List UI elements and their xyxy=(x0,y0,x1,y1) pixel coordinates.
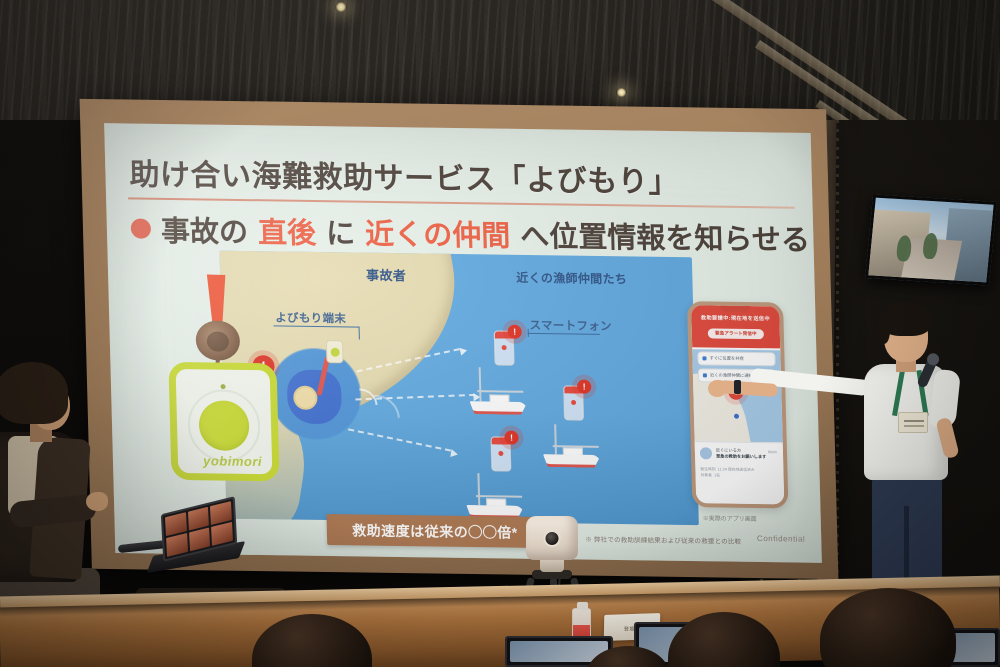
seated-guest-hair xyxy=(0,362,68,424)
phone-mockup-caption: ※実際のアプリ画面 xyxy=(703,513,757,523)
phone-notch xyxy=(720,306,750,312)
yobimori-device-in-hand xyxy=(326,340,344,363)
app-phone-mockup: 救助要請中:現在地を送信中 緊急アラート発信中 ! すぐに位置を共有 近くの漁師… xyxy=(687,301,788,508)
fishing-boat xyxy=(542,427,603,468)
presenter-watch xyxy=(734,380,741,394)
fishing-boat xyxy=(469,374,530,415)
seated-guest-hand xyxy=(86,492,108,511)
app-meta-key: 発生時刻 xyxy=(700,467,715,471)
presenter-name-badge xyxy=(898,412,928,433)
ptz-camera-head xyxy=(526,516,578,560)
app-meta-key: 対象者 xyxy=(701,474,713,478)
label-nearby-fishermen: 近くの漁師仲間たち xyxy=(516,269,627,288)
device-brand-label: yobimori xyxy=(203,453,262,469)
presentation-photo-scene: 助け合い海難救助サービス「よびもり」 事故の直後に近くの仲間へ位置情報を知らせる… xyxy=(0,0,1000,667)
downlight xyxy=(335,2,347,12)
app-avatar xyxy=(700,447,712,459)
title-underline xyxy=(128,197,795,208)
camera-lens-icon xyxy=(544,530,561,547)
alert-badge-icon: ! xyxy=(577,380,591,394)
app-meta-value: 1名 xyxy=(714,474,720,478)
confidential-label: Confidential xyxy=(757,534,806,544)
app-meta-value: 11:24 現在地送信済み xyxy=(718,467,755,472)
presenter-pointing-hand xyxy=(708,380,726,397)
alert-badge-icon: ! xyxy=(504,431,518,445)
signal-arrow-head xyxy=(459,346,468,355)
app-header-title: 救助要請中:現在地を送信中 xyxy=(691,314,779,322)
projection-screen: 助け合い海難救助サービス「よびもり」 事故の直後に近くの仲間へ位置情報を知らせる… xyxy=(104,123,822,563)
app-header-pill: 緊急アラート発信中 xyxy=(708,328,764,339)
signal-arrow-head xyxy=(450,449,458,458)
label-victim: 事故者 xyxy=(366,265,406,285)
slide-subtitle-p4: へ位置情報を知らせる xyxy=(520,213,811,259)
alert-badge-icon: ! xyxy=(508,325,522,339)
fishing-boat xyxy=(466,478,527,519)
slide: 助け合い海難救助サービス「よびもり」 事故の直後に近くの仲間へ位置情報を知らせる… xyxy=(104,123,822,563)
label-device: よびもり端末 xyxy=(275,309,346,326)
slide-title: 助け合い海難救助サービス「よびもり」 xyxy=(129,149,680,201)
label-smartphone: スマートフォン xyxy=(529,317,612,334)
downlight xyxy=(616,88,627,97)
laptop-videocall[interactable] xyxy=(150,505,236,575)
slide-subtitle-p1: 直後 xyxy=(257,209,316,252)
bullet-dot-icon xyxy=(131,218,152,238)
app-distance-label: 800m xyxy=(768,450,777,454)
slide-subtitle-p2: に xyxy=(326,210,356,252)
app-detail-card: 近くにいる方 至急の救助をお願いします 800m 発生時刻 11:24 現在地送… xyxy=(695,441,785,504)
victim-head xyxy=(293,386,318,410)
sea-map-illustration: 事故者 近くの漁師仲間たち よびもり端末 スマートフォン ! xyxy=(219,251,698,526)
slide-subtitle-p0: 事故の xyxy=(160,208,248,251)
lanyard-knob xyxy=(195,320,240,361)
rescue-speed-banner: 救助速度は従来の◯◯倍* xyxy=(326,514,543,548)
app-chip: すぐに位置を共有 xyxy=(697,351,775,366)
slide-footnote: ※ 弊社での救助訓練結果および従来の救援との比較 xyxy=(585,534,741,546)
app-card-sub: 至急の救助をお願いします xyxy=(716,454,766,460)
wall-monitor xyxy=(865,194,997,285)
slide-subtitle-p3: 近くの仲間 xyxy=(365,211,511,255)
presenter xyxy=(836,300,976,600)
